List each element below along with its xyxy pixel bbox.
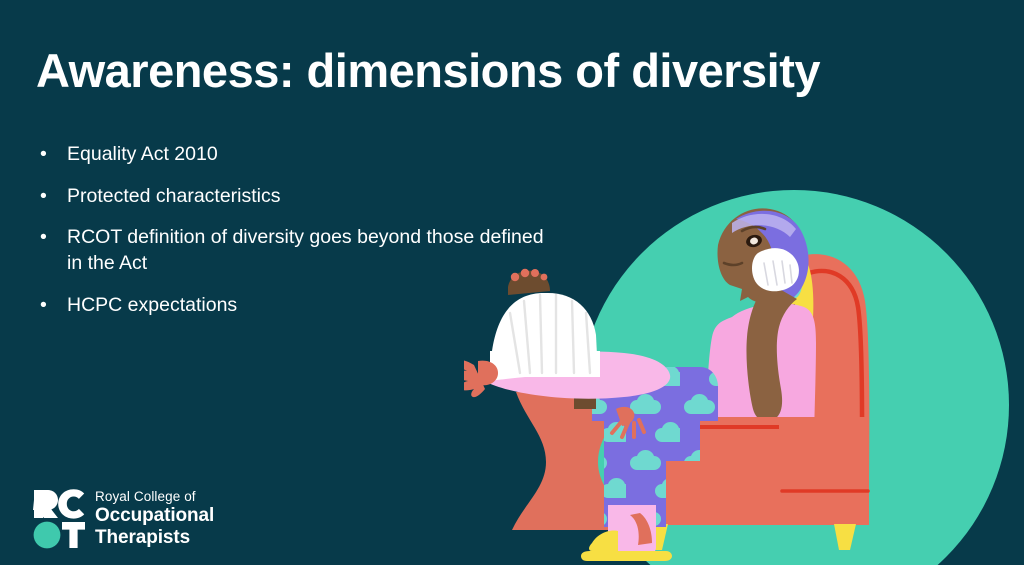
page-title: Awareness: dimensions of diversity xyxy=(36,45,820,97)
list-item-label: HCPC expectations xyxy=(67,294,237,316)
bullet-marker-icon: • xyxy=(40,225,47,251)
bullet-marker-icon: • xyxy=(40,184,47,210)
person-hand-right xyxy=(612,407,644,437)
person-head xyxy=(718,208,809,356)
stool-shape xyxy=(512,392,632,530)
logo-line-therapists: Therapists xyxy=(95,527,214,549)
slide-canvas: Awareness: dimensions of diversity • Equ… xyxy=(0,0,1024,565)
rcot-logo: Royal College of Occupational Therapists xyxy=(33,488,214,550)
blanket xyxy=(478,351,670,398)
sock-and-slipper xyxy=(581,505,672,561)
bullet-list: • Equality Act 2010 • Protected characte… xyxy=(36,142,556,335)
chair-seat xyxy=(619,417,799,525)
chair-foot-left xyxy=(646,524,668,550)
list-item-label: Equality Act 2010 xyxy=(67,143,218,165)
list-item: • Equality Act 2010 xyxy=(36,142,556,168)
list-item: • RCOT definition of diversity goes beyo… xyxy=(36,225,556,276)
person-hand-left xyxy=(464,360,498,397)
pyjama-leg-lower xyxy=(604,421,666,527)
person-arm xyxy=(746,283,797,422)
list-item: • Protected characteristics xyxy=(36,184,556,210)
list-item-label: RCOT definition of diversity goes beyond… xyxy=(67,226,544,274)
pyjama-leg-upper xyxy=(592,367,718,421)
bullet-marker-icon: • xyxy=(40,293,47,319)
logo-line-royal-college-of: Royal College of xyxy=(95,489,214,505)
tissue xyxy=(752,248,799,291)
bullet-marker-icon: • xyxy=(40,142,47,168)
rcot-logo-wordmark: Royal College of Occupational Therapists xyxy=(95,489,214,549)
list-item: • HCPC expectations xyxy=(36,293,556,319)
cushion xyxy=(761,250,813,390)
pyjama-top xyxy=(706,303,816,447)
list-item-label: Protected characteristics xyxy=(67,185,281,207)
chair-foot-right xyxy=(834,524,856,550)
rcot-monogram-icon xyxy=(33,488,85,550)
logo-line-occupational: Occupational xyxy=(95,505,214,527)
